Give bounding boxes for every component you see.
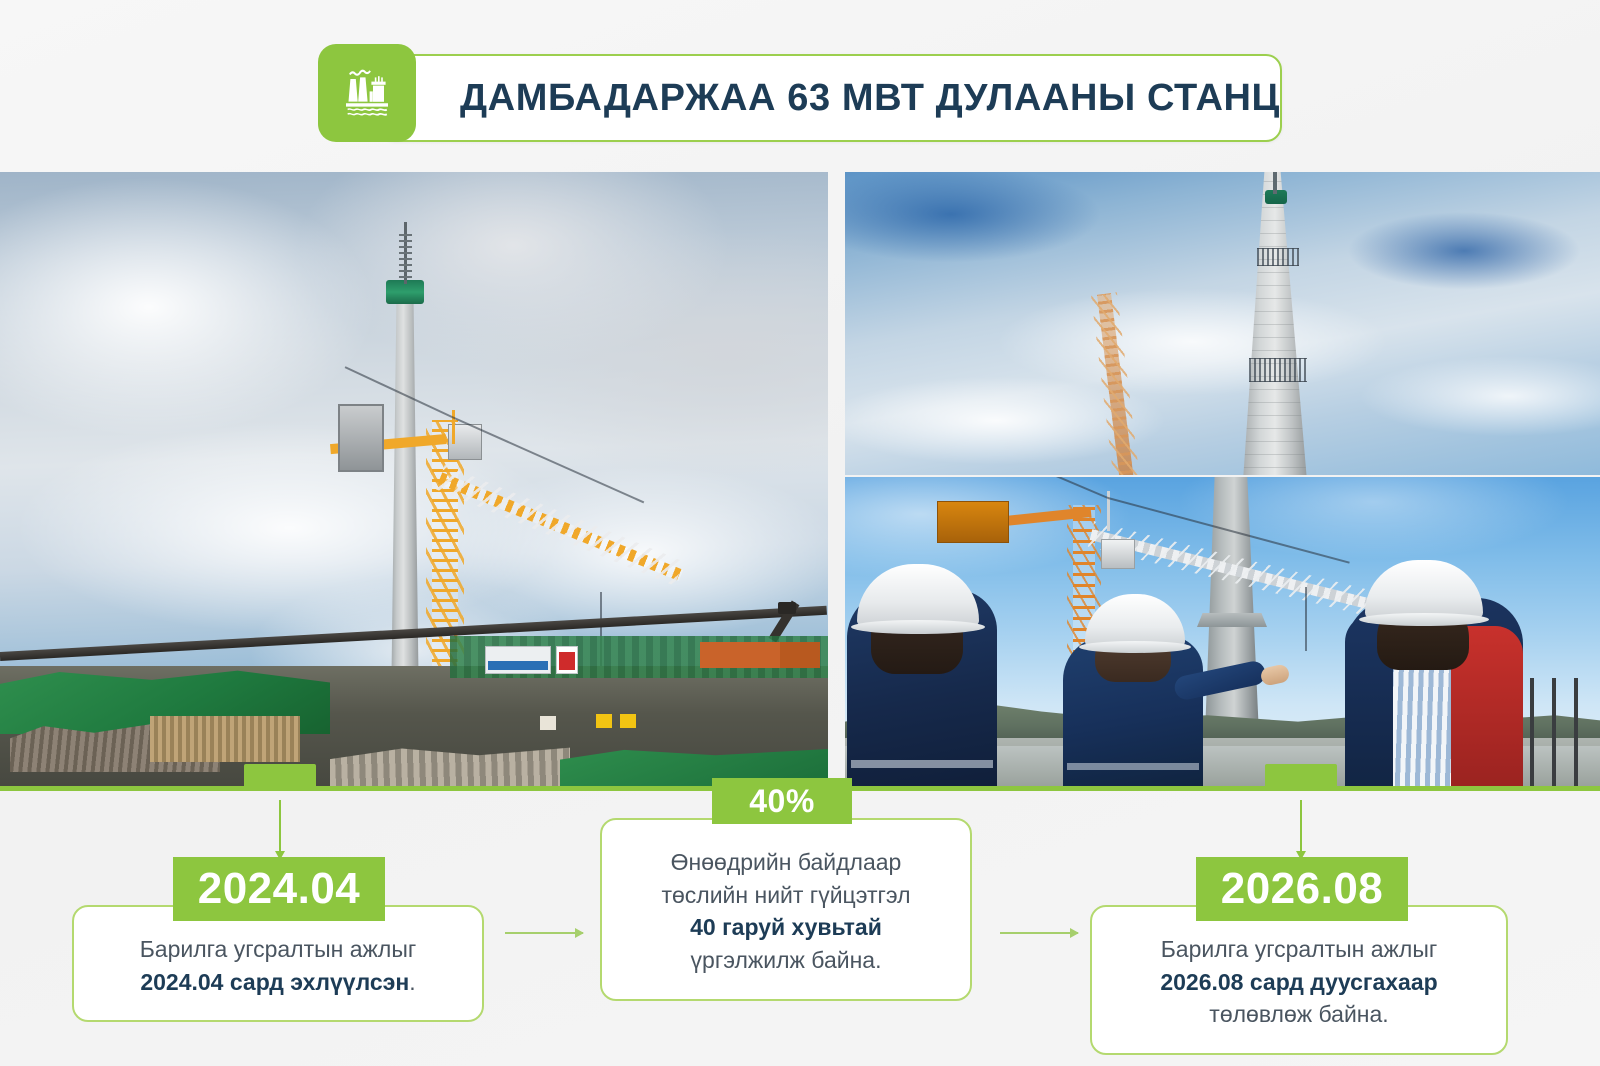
timeline-card-progress: Өнөөдрийн байдлаар төслийн нийт гүйцэтгэ… [600, 818, 972, 1001]
timeline-badge-finish: 2026.08 [1196, 857, 1408, 921]
photo-collage [0, 172, 1600, 786]
card-3-text-after: төлөвлөж байна. [1209, 1001, 1388, 1027]
timeline-card-start: Барилга угсралтын ажлыг 2024.04 сард эхл… [72, 905, 484, 1022]
header-title-pill: ДАМБАДАРЖАА 63 МВТ ДУЛААНЫ СТАНЦ [380, 54, 1282, 142]
timeline-connector-stem-1 [279, 800, 281, 852]
arrow-right-icon-2 [1000, 932, 1078, 934]
infographic-page: ДАМБАДАРЖАА 63 МВТ ДУЛААНЫ СТАНЦ [0, 0, 1600, 1066]
timeline-tab-3 [1265, 764, 1337, 786]
chimney-upward-photo [845, 172, 1600, 475]
timeline-tab-1 [244, 764, 316, 786]
arrow-right-icon-1 [505, 932, 583, 934]
header-bar: ДАМБАДАРЖАА 63 МВТ ДУЛААНЫ СТАНЦ [318, 44, 1282, 144]
timeline-badge-progress: 40% [712, 778, 852, 824]
card-2-line1: Өнөөдрийн байдлаар [671, 849, 902, 875]
card-2-text-bold: 40 гаруй хувьтай [690, 914, 882, 940]
card-1-text-before: Барилга угсралтын ажлыг [140, 936, 417, 962]
timeline-connector-stem-3 [1300, 800, 1302, 852]
workers-inspection-photo [845, 477, 1600, 786]
card-2-line2: төслийн нийт гүйцэтгэл [661, 882, 910, 908]
timeline-card-finish: Барилга угсралтын ажлыг 2026.08 сард дуу… [1090, 905, 1508, 1055]
card-1-text-bold: 2024.04 сард эхлүүлсэн [140, 969, 409, 995]
main-construction-site-photo [0, 172, 828, 786]
power-plant-icon [318, 44, 416, 142]
page-title: ДАМБАДАРЖАА 63 МВТ ДУЛААНЫ СТАНЦ [460, 77, 1280, 120]
card-3-text-before: Барилга угсралтын ажлыг [1161, 936, 1438, 962]
card-2-line3: үргэлжилж байна. [691, 947, 882, 973]
timeline-badge-start: 2024.04 [173, 857, 385, 921]
card-1-text-after: . [409, 969, 415, 995]
card-3-text-bold: 2026.08 сард дуусгахаар [1160, 969, 1437, 995]
